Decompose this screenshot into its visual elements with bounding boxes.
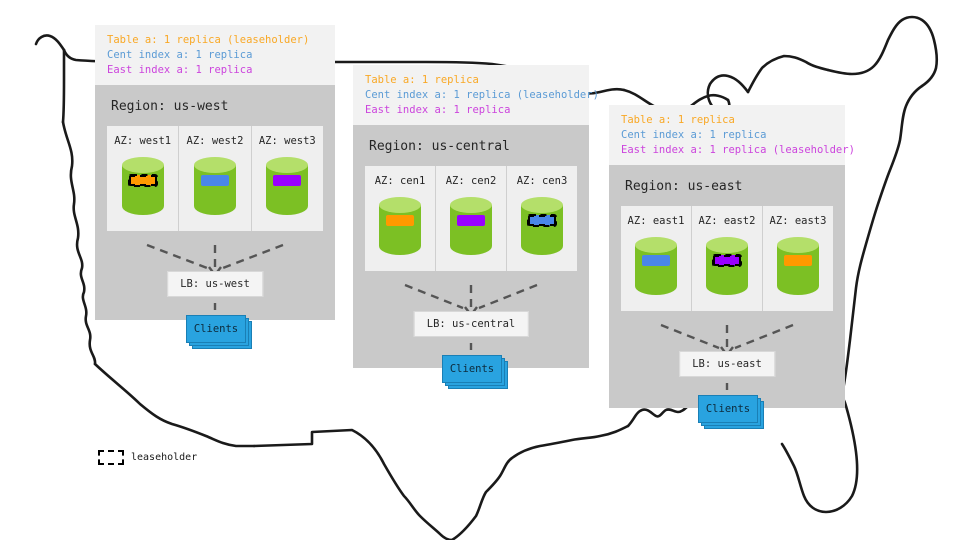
map-path-southwest [95,364,254,446]
map-path-west [63,122,95,364]
connector-az3 [735,325,793,348]
connector-az1 [405,285,463,308]
replica-line-cent: Cent index a: 1 replica (leaseholder) [365,88,577,103]
region-panel-us-central[interactable]: Table a: 1 replica Cent index a: 1 repli… [353,65,589,368]
map-path-eastcoast [843,86,922,390]
legend-label: leaseholder [131,452,197,463]
clients-group-us-east[interactable]: Clients [698,395,756,421]
map-path-notch [63,50,64,122]
replica-line-cent: Cent index a: 1 replica [107,48,323,63]
replica-line-table: Table a: 1 replica [621,113,833,128]
replica-line-table: Table a: 1 replica [365,73,577,88]
region-replica-summary: Table a: 1 replica (leaseholder) Cent in… [95,25,335,85]
map-path-gulfcoast [452,426,628,540]
replica-line-cent: Cent index a: 1 replica [621,128,833,143]
replica-line-east: East index a: 1 replica [365,103,577,118]
map-path-gulf [254,430,452,540]
load-balancer-us-east[interactable]: LB: us-east [679,351,775,377]
map-path-greatlakes [748,56,828,92]
region-panel-us-west[interactable]: Table a: 1 replica (leaseholder) Cent in… [95,25,335,320]
region-panel-us-east[interactable]: Table a: 1 replica Cent index a: 1 repli… [609,105,845,408]
clients-box[interactable]: Clients [698,395,758,423]
clients-box[interactable]: Clients [186,315,246,343]
map-path-newengland [828,17,937,86]
clients-box[interactable]: Clients [442,355,502,383]
legend: leaseholder [98,450,197,465]
replica-line-east: East index a: 1 replica [107,63,323,78]
clients-group-us-central[interactable]: Clients [442,355,500,381]
load-balancer-us-central[interactable]: LB: us-central [414,311,529,337]
dashed-outline-swatch-icon [98,450,124,465]
connector-az3 [223,245,283,268]
replica-line-east: East index a: 1 replica (leaseholder) [621,143,833,158]
map-path-northwest [36,35,64,50]
load-balancer-us-west[interactable]: LB: us-west [167,271,263,297]
connector-az1 [661,325,719,348]
connector-az3 [479,285,537,308]
region-replica-summary: Table a: 1 replica Cent index a: 1 repli… [353,65,589,125]
replica-line-table: Table a: 1 replica (leaseholder) [107,33,323,48]
region-replica-summary: Table a: 1 replica Cent index a: 1 repli… [609,105,845,165]
connector-az1 [147,245,207,268]
clients-group-us-west[interactable]: Clients [186,315,244,341]
